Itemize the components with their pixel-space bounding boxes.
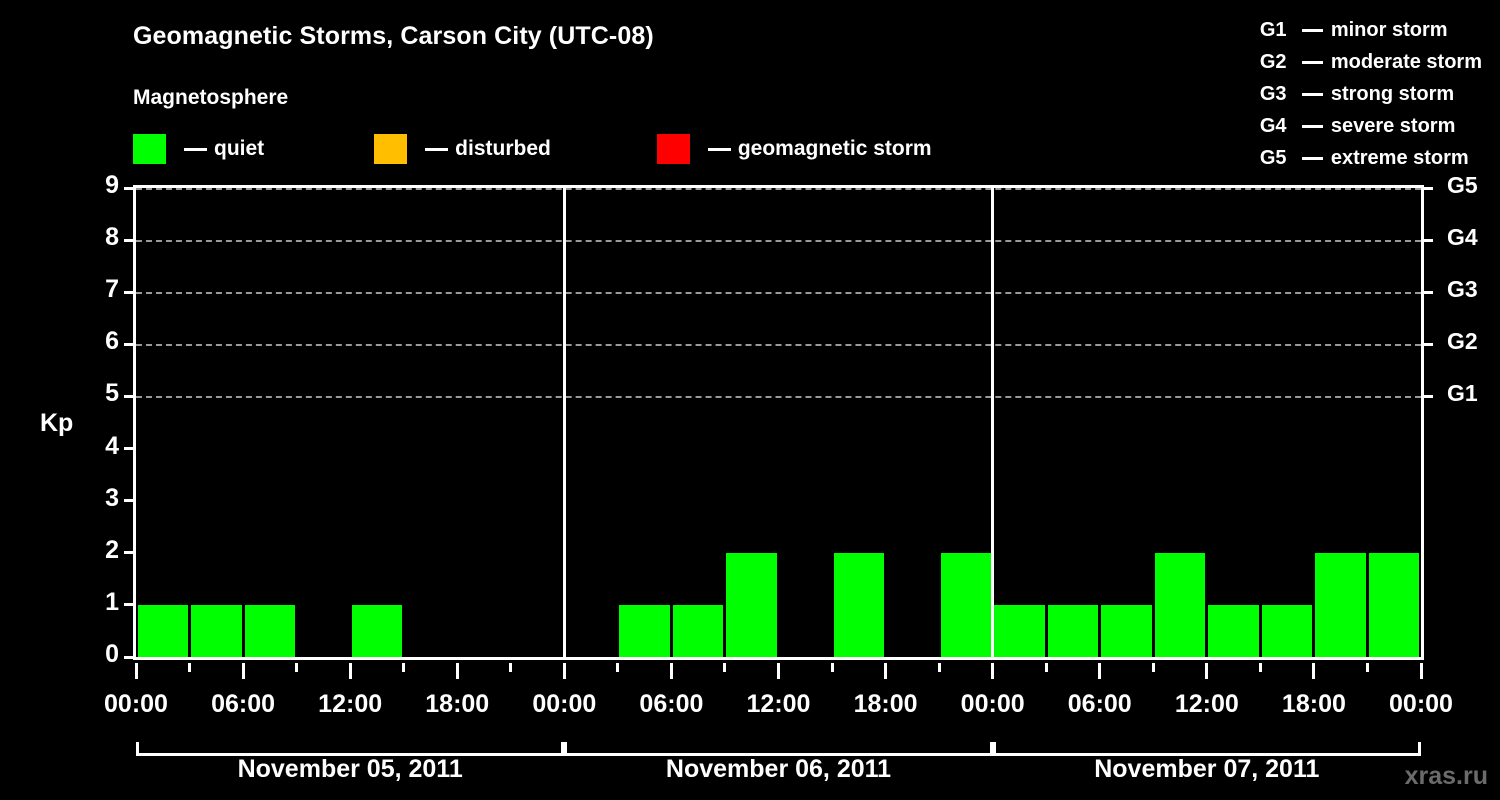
bar[interactable] xyxy=(1369,553,1420,657)
y-axis-label-0: 0 xyxy=(79,640,119,669)
bar[interactable] xyxy=(1315,553,1366,657)
y-tick-9 xyxy=(124,187,136,190)
x-tick-minor xyxy=(831,663,834,672)
y-tick-right-g3 xyxy=(1421,291,1433,294)
y-axis-label-5: 5 xyxy=(79,379,119,408)
g-scale-label: minor storm xyxy=(1331,14,1448,46)
g-scale-row-g2: G2moderate storm xyxy=(1260,46,1482,78)
magnetosphere-legend: quietdisturbedgeomagnetic storm xyxy=(133,133,932,165)
y-tick-8 xyxy=(124,239,136,242)
x-axis-label: 18:00 xyxy=(1282,690,1346,719)
gridline-kp-5 xyxy=(136,396,1421,398)
bar[interactable] xyxy=(191,605,242,657)
y-tick-right-g1 xyxy=(1421,395,1433,398)
bar[interactable] xyxy=(726,553,777,657)
page-title: Geomagnetic Storms, Carson City (UTC-08) xyxy=(133,22,654,51)
x-axis-label: 18:00 xyxy=(854,690,918,719)
y-axis-label-9: 9 xyxy=(79,171,119,200)
day-bracket xyxy=(993,742,1421,756)
day-separator xyxy=(991,188,994,657)
x-axis-label: 00:00 xyxy=(532,690,596,719)
date-label: November 07, 2011 xyxy=(993,755,1421,784)
y-tick-0 xyxy=(124,656,136,659)
g-scale-code: G4 xyxy=(1260,110,1294,142)
y-axis-label-3: 3 xyxy=(79,484,119,513)
day-separator xyxy=(563,188,566,657)
bar[interactable] xyxy=(1262,605,1313,657)
g-scale-code: G2 xyxy=(1260,46,1294,78)
x-tick-major xyxy=(135,663,138,679)
g-scale-dash-icon xyxy=(1302,157,1323,160)
g-scale-label: strong storm xyxy=(1331,78,1454,110)
g-scale-label: extreme storm xyxy=(1331,142,1469,174)
g-axis-label-g4: G4 xyxy=(1447,224,1478,251)
y-tick-right-g4 xyxy=(1421,239,1433,242)
x-tick-minor xyxy=(723,663,726,672)
g-scale-dash-icon xyxy=(1302,125,1323,128)
bar[interactable] xyxy=(994,605,1045,657)
x-tick-minor xyxy=(1152,663,1155,672)
x-tick-major xyxy=(884,663,887,679)
plot-inner xyxy=(136,188,1421,657)
g-axis-label-g2: G2 xyxy=(1447,328,1478,355)
quiet-swatch xyxy=(133,134,166,164)
x-axis-label: 06:00 xyxy=(639,690,703,719)
g-scale-dash-icon xyxy=(1302,29,1323,32)
y-tick-right-g2 xyxy=(1421,343,1433,346)
date-label: November 06, 2011 xyxy=(564,755,992,784)
legend-entry-geomagnetic-storm: geomagnetic storm xyxy=(657,134,932,164)
x-tick-minor xyxy=(509,663,512,672)
g-scale-row-g5: G5extreme storm xyxy=(1260,142,1482,174)
x-tick-major xyxy=(456,663,459,679)
g-scale-row-g4: G4severe storm xyxy=(1260,110,1482,142)
bar[interactable] xyxy=(941,553,992,657)
day-bracket xyxy=(136,742,564,756)
y-tick-5 xyxy=(124,395,136,398)
gridline-kp-8 xyxy=(136,240,1421,242)
y-axis-title: Kp xyxy=(40,409,73,438)
bar[interactable] xyxy=(138,605,189,657)
x-tick-major xyxy=(670,663,673,679)
x-axis-label: 18:00 xyxy=(425,690,489,719)
legend-label: disturbed xyxy=(455,137,551,161)
bar[interactable] xyxy=(1048,605,1099,657)
g-scale-label: severe storm xyxy=(1331,110,1456,142)
legend-label: quiet xyxy=(214,137,264,161)
g-scale-dash-icon xyxy=(1302,61,1323,64)
y-tick-6 xyxy=(124,343,136,346)
bar[interactable] xyxy=(834,553,885,657)
x-tick-minor xyxy=(616,663,619,672)
y-tick-2 xyxy=(124,551,136,554)
x-axis-label: 00:00 xyxy=(961,690,1025,719)
bar[interactable] xyxy=(1208,605,1259,657)
storm-swatch xyxy=(657,134,690,164)
y-axis-label-6: 6 xyxy=(79,327,119,356)
g-scale-row-g3: G3strong storm xyxy=(1260,78,1482,110)
x-tick-minor xyxy=(402,663,405,672)
y-axis-label-1: 1 xyxy=(79,588,119,617)
g-axis-label-g1: G1 xyxy=(1447,380,1478,407)
x-tick-major xyxy=(1205,663,1208,679)
x-axis-label: 12:00 xyxy=(747,690,811,719)
y-axis-label-8: 8 xyxy=(79,223,119,252)
g-axis-label-g3: G3 xyxy=(1447,276,1478,303)
x-tick-minor xyxy=(1366,663,1369,672)
bar[interactable] xyxy=(619,605,670,657)
plot-area xyxy=(133,185,1424,660)
y-axis-label-2: 2 xyxy=(79,536,119,565)
x-tick-major xyxy=(1312,663,1315,679)
g-scale-code: G5 xyxy=(1260,142,1294,174)
y-axis-label-4: 4 xyxy=(79,432,119,461)
g-scale-legend: G1minor stormG2moderate stormG3strong st… xyxy=(1260,14,1482,174)
legend-dash-icon xyxy=(184,148,207,151)
x-tick-major xyxy=(242,663,245,679)
x-tick-minor xyxy=(1259,663,1262,672)
y-axis-label-7: 7 xyxy=(79,275,119,304)
bar[interactable] xyxy=(673,605,724,657)
x-axis-label: 00:00 xyxy=(1389,690,1453,719)
y-tick-3 xyxy=(124,499,136,502)
x-axis-label: 00:00 xyxy=(104,690,168,719)
x-tick-major xyxy=(1098,663,1101,679)
x-axis-label: 12:00 xyxy=(318,690,382,719)
x-tick-minor xyxy=(295,663,298,672)
y-tick-4 xyxy=(124,447,136,450)
y-tick-7 xyxy=(124,291,136,294)
g-scale-code: G3 xyxy=(1260,78,1294,110)
x-axis-label: 06:00 xyxy=(1068,690,1132,719)
x-tick-major xyxy=(991,663,994,679)
bar[interactable] xyxy=(1155,553,1206,657)
g-scale-dash-icon xyxy=(1302,93,1323,96)
gridline-kp-9 xyxy=(136,188,1421,190)
legend-dash-icon xyxy=(425,148,448,151)
x-tick-major xyxy=(1420,663,1423,679)
x-axis-label: 12:00 xyxy=(1175,690,1239,719)
legend-label: geomagnetic storm xyxy=(738,137,932,161)
bar[interactable] xyxy=(352,605,403,657)
x-axis-label: 06:00 xyxy=(211,690,275,719)
x-tick-minor xyxy=(938,663,941,672)
legend-dash-icon xyxy=(708,148,731,151)
y-tick-1 xyxy=(124,603,136,606)
g-scale-row-g1: G1minor storm xyxy=(1260,14,1482,46)
x-tick-minor xyxy=(1045,663,1048,672)
y-tick-right-g5 xyxy=(1421,187,1433,190)
x-tick-major xyxy=(777,663,780,679)
g-scale-label: moderate storm xyxy=(1331,46,1482,78)
disturbed-swatch xyxy=(374,134,407,164)
legend-entry-quiet: quiet xyxy=(133,134,264,164)
bar[interactable] xyxy=(245,605,296,657)
legend-heading: Magnetosphere xyxy=(133,86,288,110)
gridline-kp-6 xyxy=(136,344,1421,346)
bar[interactable] xyxy=(1101,605,1152,657)
g-scale-code: G1 xyxy=(1260,14,1294,46)
g-axis-label-g5: G5 xyxy=(1447,172,1478,199)
day-bracket xyxy=(564,742,992,756)
x-tick-major xyxy=(563,663,566,679)
gridline-kp-7 xyxy=(136,292,1421,294)
date-label: November 05, 2011 xyxy=(136,755,564,784)
x-tick-major xyxy=(349,663,352,679)
x-tick-minor xyxy=(188,663,191,672)
legend-entry-disturbed: disturbed xyxy=(374,134,551,164)
